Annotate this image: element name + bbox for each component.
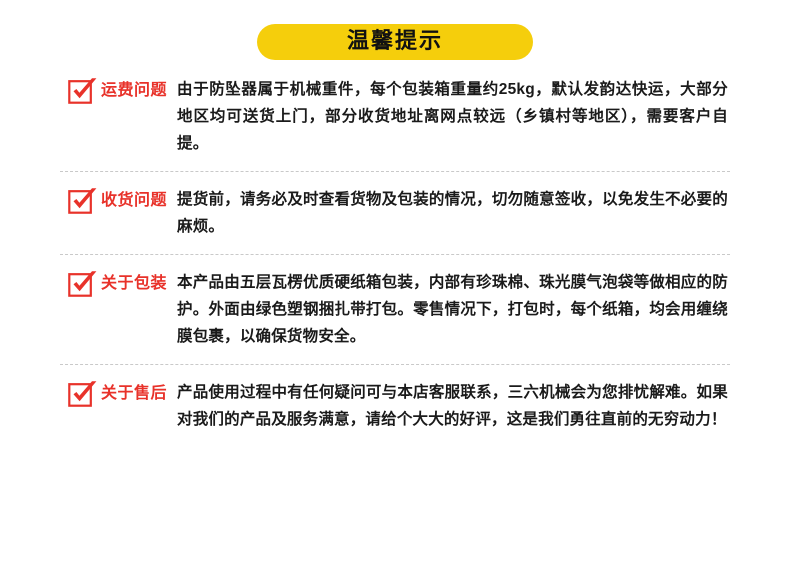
promo-notice-page: 温馨提示 运费问题 由于防坠器属于机械重件，每个包装箱重量约25kg，默认发韵达… — [0, 0, 790, 583]
section-label: 收货问题 — [101, 187, 167, 213]
banner-title: 温馨提示 — [311, 28, 479, 54]
section-tag: 运费问题 — [68, 76, 167, 105]
notice-sections: 运费问题 由于防坠器属于机械重件，每个包装箱重量约25kg，默认发韵达快运，大部… — [0, 76, 790, 433]
notice-section: 关于售后 产品使用过程中有任何疑问可与本店客服联系，三六机械会为您排忧解难。如果… — [0, 379, 790, 433]
red-check-box-icon — [68, 77, 98, 105]
section-label: 运费问题 — [101, 77, 167, 103]
section-body-text: 产品使用过程中有任何疑问可与本店客服联系，三六机械会为您排忧解难。如果对我们的产… — [167, 379, 728, 433]
spacer — [0, 240, 790, 254]
red-check-box-icon — [68, 187, 98, 215]
section-label: 关于包装 — [101, 270, 167, 296]
notice-section: 运费问题 由于防坠器属于机械重件，每个包装箱重量约25kg，默认发韵达快运，大部… — [0, 76, 790, 157]
notice-section: 关于包装 本产品由五层瓦楞优质硬纸箱包装，内部有珍珠棉、珠光膜气泡袋等做相应的防… — [0, 269, 790, 350]
spacer — [0, 350, 790, 364]
section-tag: 收货问题 — [68, 186, 167, 215]
section-tag: 关于包装 — [68, 269, 167, 298]
section-body-text: 由于防坠器属于机械重件，每个包装箱重量约25kg，默认发韵达快运，大部分地区均可… — [167, 76, 728, 157]
notice-section: 收货问题 提货前，请务必及时查看货物及包装的情况，切勿随意签收，以免发生不必要的… — [0, 186, 790, 240]
section-body-text: 本产品由五层瓦楞优质硬纸箱包装，内部有珍珠棉、珠光膜气泡袋等做相应的防护。外面由… — [167, 269, 728, 350]
spacer — [0, 255, 790, 269]
spacer — [0, 157, 790, 171]
red-check-box-icon — [68, 270, 98, 298]
section-label: 关于售后 — [101, 380, 167, 406]
notice-banner: 温馨提示 — [257, 24, 533, 60]
section-body-text: 提货前，请务必及时查看货物及包装的情况，切勿随意签收，以免发生不必要的麻烦。 — [167, 186, 728, 240]
section-tag: 关于售后 — [68, 379, 167, 408]
banner-container: 温馨提示 — [0, 24, 790, 60]
spacer — [0, 365, 790, 379]
spacer — [0, 172, 790, 186]
red-check-box-icon — [68, 380, 98, 408]
